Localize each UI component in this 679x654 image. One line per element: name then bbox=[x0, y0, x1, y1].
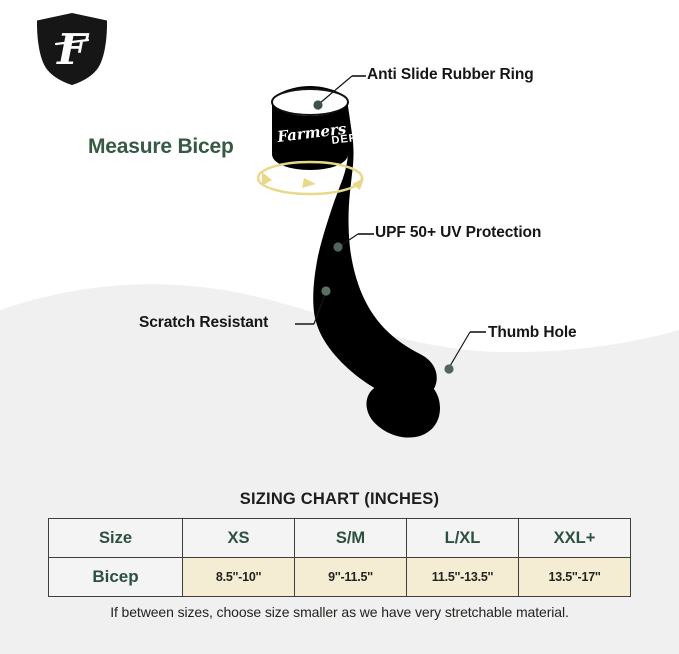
callout-dot-scratch-resistant bbox=[321, 286, 330, 295]
callout-label-anti-slide-rubber-ring: Anti Slide Rubber Ring bbox=[367, 66, 534, 84]
table-rowlabel-bicep: Bicep bbox=[49, 558, 183, 597]
table-header-sm: S/M bbox=[295, 519, 407, 558]
callout-dot-thumb-hole bbox=[444, 364, 453, 373]
table-header-lxl: L/XL bbox=[407, 519, 519, 558]
table-header-size: Size bbox=[49, 519, 183, 558]
sizing-chart-table-wrap: Size XS S/M L/XL XXL+ Bicep 8.5''-10'' 9… bbox=[48, 518, 631, 597]
table-header-xxl: XXL+ bbox=[519, 519, 631, 558]
table-header-xs: XS bbox=[183, 519, 295, 558]
callout-label-thumb-hole: Thumb Hole bbox=[488, 324, 577, 342]
table-cell-bicep-sm: 9''-11.5'' bbox=[295, 558, 407, 597]
table-cell-bicep-xxl: 13.5''-17'' bbox=[519, 558, 631, 597]
callout-label-upf-50-uv-protection: UPF 50+ UV Protection bbox=[375, 224, 541, 242]
table-row-bicep: Bicep 8.5''-10'' 9''-11.5'' 11.5''-13.5'… bbox=[49, 558, 631, 597]
sizing-guide-page: F Farmers DEFENSE bbox=[0, 0, 679, 654]
callout-label-scratch-resistant: Scratch Resistant bbox=[139, 314, 268, 332]
sizing-chart-note: If between sizes, choose size smaller as… bbox=[0, 604, 679, 620]
callout-dot-anti-slide-rubber-ring bbox=[313, 100, 322, 109]
measure-bicep-label: Measure Bicep bbox=[88, 135, 234, 159]
table-cell-bicep-lxl: 11.5''-13.5'' bbox=[407, 558, 519, 597]
sizing-chart-title: SIZING CHART (INCHES) bbox=[0, 490, 679, 509]
sizing-chart-table: Size XS S/M L/XL XXL+ Bicep 8.5''-10'' 9… bbox=[48, 518, 631, 597]
callout-dot-upf-50 bbox=[333, 242, 342, 251]
table-row-header: Size XS S/M L/XL XXL+ bbox=[49, 519, 631, 558]
table-cell-bicep-xs: 8.5''-10'' bbox=[183, 558, 295, 597]
